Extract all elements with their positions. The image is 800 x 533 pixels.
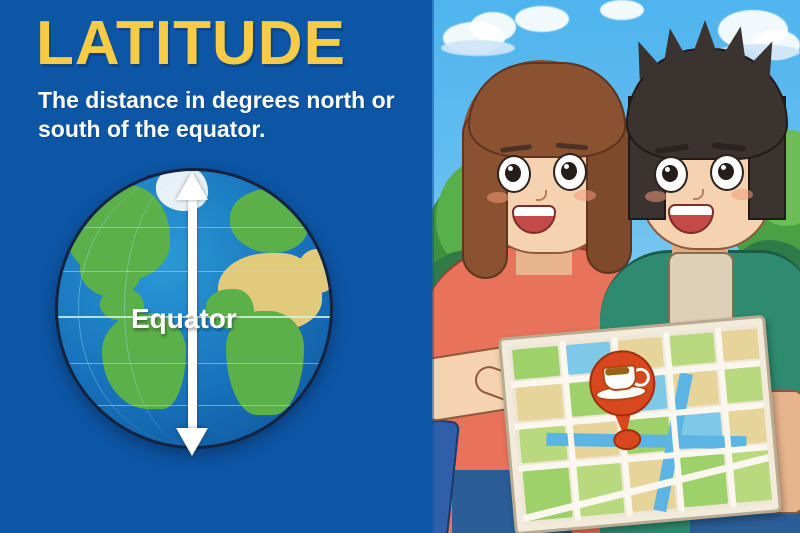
latitude-arrow-north-icon [176, 172, 208, 200]
girl-hair-fringe [468, 62, 626, 158]
cloud-icon [470, 12, 516, 42]
latitude-definition-card: LATITUDE The distance in degrees north o… [0, 0, 800, 533]
girl-eye-glint-left [508, 166, 513, 171]
map-canvas [508, 324, 773, 525]
page-title: LATITUDE [36, 13, 346, 75]
girl-blush-left [487, 192, 509, 203]
cloud-icon [515, 6, 569, 32]
girl-blush-right [574, 190, 596, 201]
boy-blush-right [731, 189, 753, 200]
equator-label: Equator [131, 303, 237, 335]
boy-hair-spike [692, 20, 718, 56]
girl-eye-glint-right [564, 164, 569, 169]
panel-edge-fade [416, 0, 434, 533]
boy-eye-glint-left [665, 167, 670, 172]
paper-street-map[interactable] [498, 315, 782, 533]
latitude-arrow-south-icon [176, 428, 208, 456]
cloud-icon [441, 40, 515, 56]
boy-eye-glint-right [721, 165, 726, 170]
boy-blush-left [645, 191, 667, 202]
cloud-icon [600, 0, 644, 20]
definition-text: The distance in degrees north or south o… [38, 86, 428, 145]
